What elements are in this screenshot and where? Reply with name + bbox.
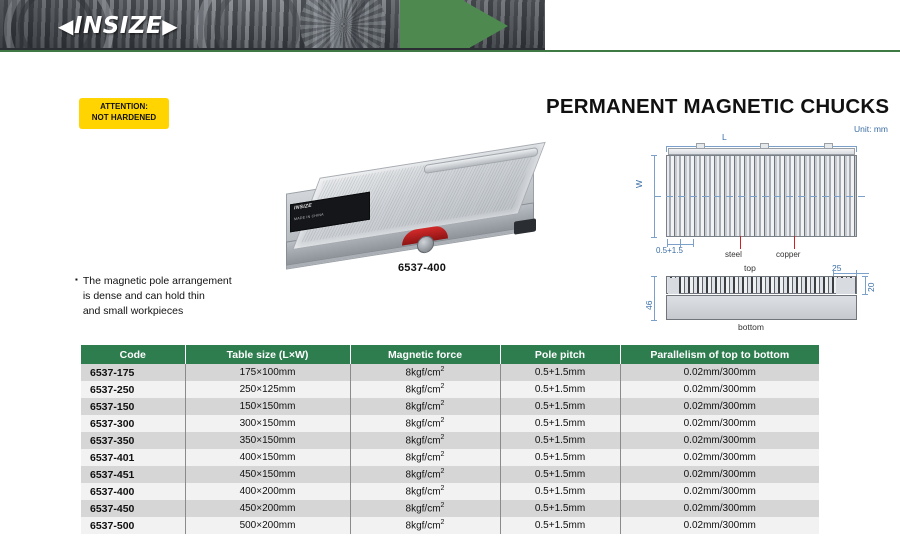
chuck-lever-knob xyxy=(417,235,434,255)
dimension-tick xyxy=(862,294,868,295)
bottom-face-label: bottom xyxy=(738,322,764,332)
cell-parallelism: 0.02mm/300mm xyxy=(620,415,819,432)
logo-wordmark: INSIZE xyxy=(74,13,162,39)
top-layer-dimension-line xyxy=(865,276,866,295)
cell-table-size: 300×150mm xyxy=(185,415,350,432)
header-green-rule xyxy=(0,50,900,52)
header-chevron-icon xyxy=(462,0,508,52)
table-row[interactable]: 6537-175175×100mm8kgf/cm20.5+1.5mm0.02mm… xyxy=(81,364,819,381)
cell-magnetic-force: 8kgf/cm2 xyxy=(350,517,500,534)
logo-right-arrow-icon: ▶ xyxy=(162,14,178,38)
pole-pitch-label: 0.5+1.5 xyxy=(656,246,683,255)
table-header-row: Code Table size (L×W) Magnetic force Pol… xyxy=(81,345,819,364)
column-header-pole-pitch: Pole pitch xyxy=(500,345,620,364)
cell-code: 6537-451 xyxy=(81,466,185,483)
logo-left-arrow-icon: ◀ xyxy=(58,14,74,38)
cell-magnetic-force: 8kgf/cm2 xyxy=(350,432,500,449)
cell-parallelism: 0.02mm/300mm xyxy=(620,364,819,381)
side-view-base xyxy=(666,295,857,320)
cell-magnetic-force: 8kgf/cm2 xyxy=(350,415,500,432)
cell-pole-pitch: 0.5+1.5mm xyxy=(500,449,620,466)
total-height-label: 46 xyxy=(644,301,654,310)
side-view-right-pad xyxy=(836,278,855,294)
feature-text: The magnetic pole arrangement is dense a… xyxy=(83,274,232,319)
table-row[interactable]: 6537-350350×150mm8kgf/cm20.5+1.5mm0.02mm… xyxy=(81,432,819,449)
total-height-dimension-line xyxy=(654,276,655,321)
technical-drawing: Unit: mm L W 0.5+1.5 steel copper xyxy=(630,124,898,336)
cell-parallelism: 0.02mm/300mm xyxy=(620,398,819,415)
dimension-tick xyxy=(833,270,834,276)
table-row[interactable]: 6537-451450×150mm8kgf/cm20.5+1.5mm0.02mm… xyxy=(81,466,819,483)
chuck-side-slot xyxy=(514,218,536,234)
cell-pole-pitch: 0.5+1.5mm xyxy=(500,483,620,500)
dimension-tick xyxy=(651,237,657,238)
dimension-tick xyxy=(856,270,857,276)
length-label: L xyxy=(722,132,727,142)
cell-magnetic-force: 8kgf/cm2 xyxy=(350,483,500,500)
cell-code: 6537-150 xyxy=(81,398,185,415)
attention-badge: ATTENTION: NOT HARDENED xyxy=(79,98,169,129)
table-body: 6537-175175×100mm8kgf/cm20.5+1.5mm0.02mm… xyxy=(81,364,819,534)
page-header: ◀INSIZE▶ xyxy=(0,0,900,52)
table-row[interactable]: 6537-150150×150mm8kgf/cm20.5+1.5mm0.02mm… xyxy=(81,398,819,415)
list-item: ▪ The magnetic pole arrangement is dense… xyxy=(75,274,290,319)
side-view-body: top bottom 46 20 25 xyxy=(666,276,857,320)
column-header-magnetic-force: Magnetic force xyxy=(350,345,500,364)
cell-table-size: 350×150mm xyxy=(185,432,350,449)
top-layer-height-label: 20 xyxy=(866,283,876,292)
top-face-label: top xyxy=(744,263,756,273)
top-view-body xyxy=(666,154,857,237)
cell-parallelism: 0.02mm/300mm xyxy=(620,466,819,483)
dimension-tick xyxy=(856,146,857,152)
cell-table-size: 450×200mm xyxy=(185,500,350,517)
width-label: W xyxy=(634,180,644,188)
table-row[interactable]: 6537-401400×150mm8kgf/cm20.5+1.5mm0.02mm… xyxy=(81,449,819,466)
product-photo: INSIZE MADE IN CHINA xyxy=(276,148,568,266)
feature-list: ▪ The magnetic pole arrangement is dense… xyxy=(75,274,290,319)
cell-table-size: 450×150mm xyxy=(185,466,350,483)
steel-label: steel xyxy=(725,250,742,259)
copper-leader-line xyxy=(794,236,795,249)
cell-table-size: 250×125mm xyxy=(185,381,350,398)
mounting-tab xyxy=(696,143,705,149)
cell-parallelism: 0.02mm/300mm xyxy=(620,449,819,466)
cell-code: 6537-300 xyxy=(81,415,185,432)
cell-code: 6537-401 xyxy=(81,449,185,466)
dimension-tick xyxy=(693,239,694,247)
cell-pole-pitch: 0.5+1.5mm xyxy=(500,432,620,449)
column-header-parallelism: Parallelism of top to bottom xyxy=(620,345,819,364)
table-row[interactable]: 6537-500500×200mm8kgf/cm20.5+1.5mm0.02mm… xyxy=(81,517,819,534)
cell-code: 6537-400 xyxy=(81,483,185,500)
cell-pole-pitch: 0.5+1.5mm xyxy=(500,517,620,534)
cell-magnetic-force: 8kgf/cm2 xyxy=(350,364,500,381)
column-header-table-size: Table size (L×W) xyxy=(185,345,350,364)
cell-table-size: 500×200mm xyxy=(185,517,350,534)
cell-magnetic-force: 8kgf/cm2 xyxy=(350,466,500,483)
cell-parallelism: 0.02mm/300mm xyxy=(620,432,819,449)
dimension-tick xyxy=(651,155,657,156)
column-header-code: Code xyxy=(81,345,185,364)
cell-code: 6537-350 xyxy=(81,432,185,449)
cell-pole-pitch: 0.5+1.5mm xyxy=(500,466,620,483)
feature-line-3: and small workpieces xyxy=(83,305,183,317)
cell-table-size: 400×150mm xyxy=(185,449,350,466)
bullet-square-icon: ▪ xyxy=(75,274,78,286)
table-row[interactable]: 6537-400400×200mm8kgf/cm20.5+1.5mm0.02mm… xyxy=(81,483,819,500)
dimension-tick xyxy=(651,276,657,277)
cell-parallelism: 0.02mm/300mm xyxy=(620,381,819,398)
cell-parallelism: 0.02mm/300mm xyxy=(620,500,819,517)
center-line xyxy=(654,196,869,197)
header-green-block xyxy=(400,0,464,52)
steel-leader-line xyxy=(740,236,741,249)
cell-magnetic-force: 8kgf/cm2 xyxy=(350,449,500,466)
cell-code: 6537-500 xyxy=(81,517,185,534)
specification-table: Code Table size (L×W) Magnetic force Pol… xyxy=(81,345,819,534)
cell-parallelism: 0.02mm/300mm xyxy=(620,517,819,534)
feature-line-2: is dense and can hold thin xyxy=(83,290,205,302)
cell-magnetic-force: 8kgf/cm2 xyxy=(350,398,500,415)
side-view-top-layer xyxy=(666,276,857,294)
cell-code: 6537-450 xyxy=(81,500,185,517)
table-row[interactable]: 6537-300300×150mm8kgf/cm20.5+1.5mm0.02mm… xyxy=(81,415,819,432)
cell-magnetic-force: 8kgf/cm2 xyxy=(350,381,500,398)
table-row[interactable]: 6537-250250×125mm8kgf/cm20.5+1.5mm0.02mm… xyxy=(81,381,819,398)
product-caption: 6537-400 xyxy=(276,262,568,274)
dimension-tick xyxy=(862,276,868,277)
cell-pole-pitch: 0.5+1.5mm xyxy=(500,415,620,432)
mounting-tab xyxy=(760,143,769,149)
cell-table-size: 400×200mm xyxy=(185,483,350,500)
cell-parallelism: 0.02mm/300mm xyxy=(620,483,819,500)
page-title: PERMANENT MAGNETIC CHUCKS xyxy=(546,95,889,119)
table-row[interactable]: 6537-450450×200mm8kgf/cm20.5+1.5mm0.02mm… xyxy=(81,500,819,517)
top-view-cap xyxy=(668,148,855,155)
dimension-tick xyxy=(651,320,657,321)
unit-label: Unit: mm xyxy=(854,124,888,134)
cell-table-size: 175×100mm xyxy=(185,364,350,381)
cell-code: 6537-175 xyxy=(81,364,185,381)
cell-pole-pitch: 0.5+1.5mm xyxy=(500,500,620,517)
cell-magnetic-force: 8kgf/cm2 xyxy=(350,500,500,517)
cell-pole-pitch: 0.5+1.5mm xyxy=(500,381,620,398)
insize-logo: ◀INSIZE▶ xyxy=(58,14,178,38)
mounting-tab xyxy=(824,143,833,149)
copper-label: copper xyxy=(776,250,800,259)
side-view-left-pad xyxy=(668,278,679,294)
cell-table-size: 150×150mm xyxy=(185,398,350,415)
feature-line-1: The magnetic pole arrangement xyxy=(83,275,232,287)
dimension-tick xyxy=(666,146,667,152)
cell-code: 6537-250 xyxy=(81,381,185,398)
cell-pole-pitch: 0.5+1.5mm xyxy=(500,364,620,381)
edge-width-dimension-line xyxy=(833,273,869,274)
attention-badge-line2: NOT HARDENED xyxy=(82,113,166,124)
attention-badge-line1: ATTENTION: xyxy=(82,102,166,113)
cell-pole-pitch: 0.5+1.5mm xyxy=(500,398,620,415)
